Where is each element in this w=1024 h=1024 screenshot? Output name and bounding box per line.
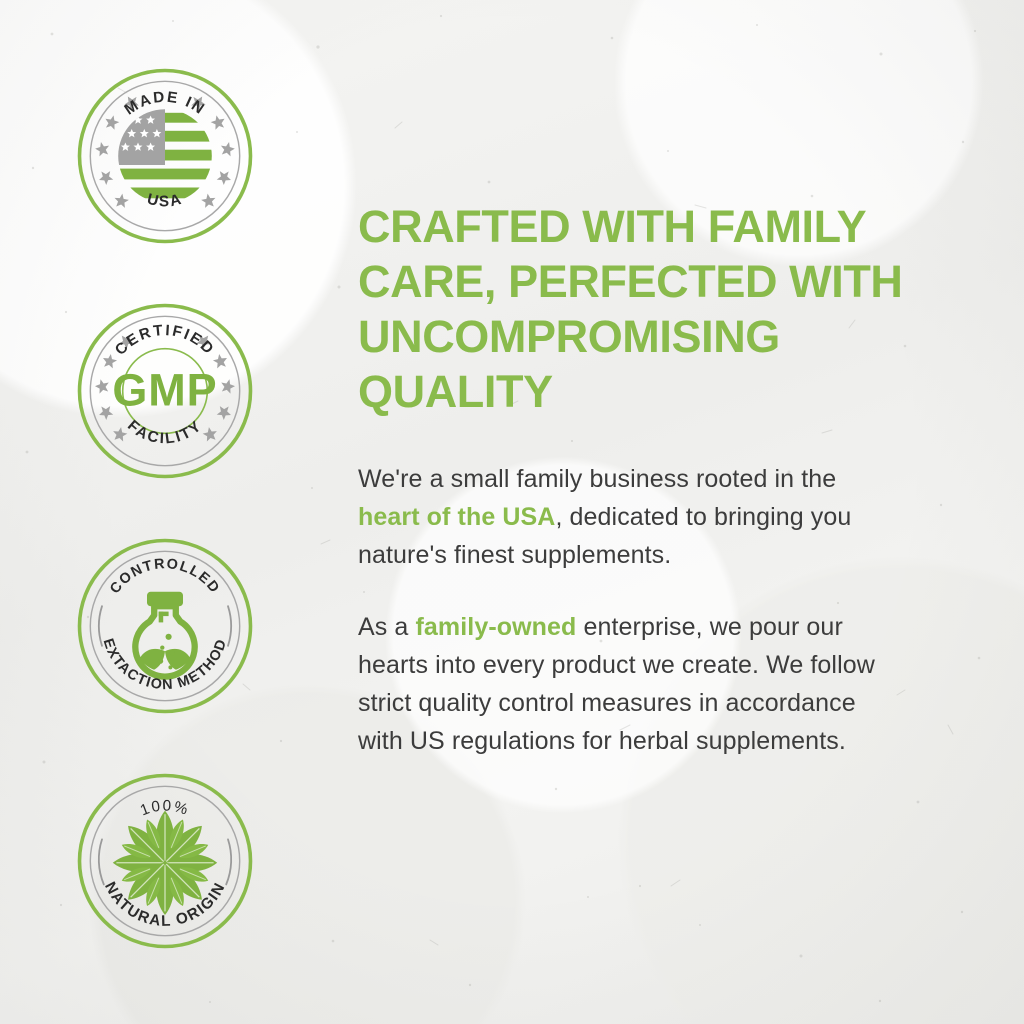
badge-gmp-certified-facility: GMP CERTIFIED FACILITY [75, 301, 255, 481]
badge-text-top: CONTROLLED [107, 556, 223, 597]
badge-controlled-extaction-method: CONTROLLED EXTACTION METHOD [75, 536, 255, 716]
paragraph-2: As a family-owned enterprise, we pour ou… [358, 608, 878, 760]
paragraph-1-part-1: We're a small family business rooted in … [358, 465, 836, 493]
usa-flag-circle-icon [115, 106, 219, 203]
certification-badges: MADE IN USA [0, 0, 330, 1024]
paragraph-1-highlight: heart of the USA [358, 503, 555, 531]
badge-text-bottom: USA [145, 191, 184, 211]
gmp-seal-icon: GMP [112, 364, 217, 415]
paragraph-2-highlight: family-owned [415, 613, 576, 641]
badge-natural-origin: 100% NATURAL ORIGIN [75, 771, 255, 951]
badge-text-bottom: FACILITY [124, 417, 206, 447]
flask-leaf-icon [135, 592, 194, 677]
page-headline: Crafted with family care, perfected with… [358, 200, 914, 420]
content-area: Crafted with family care, perfected with… [330, 0, 1024, 1024]
poster-canvas: MADE IN USA [0, 0, 1024, 1024]
paragraph-2-part-1: As a [358, 613, 415, 641]
paragraph-1: We're a small family business rooted in … [358, 460, 878, 574]
badge-made-in-usa: MADE IN USA [75, 66, 255, 246]
badge-text-top: CERTIFIED [112, 322, 218, 359]
